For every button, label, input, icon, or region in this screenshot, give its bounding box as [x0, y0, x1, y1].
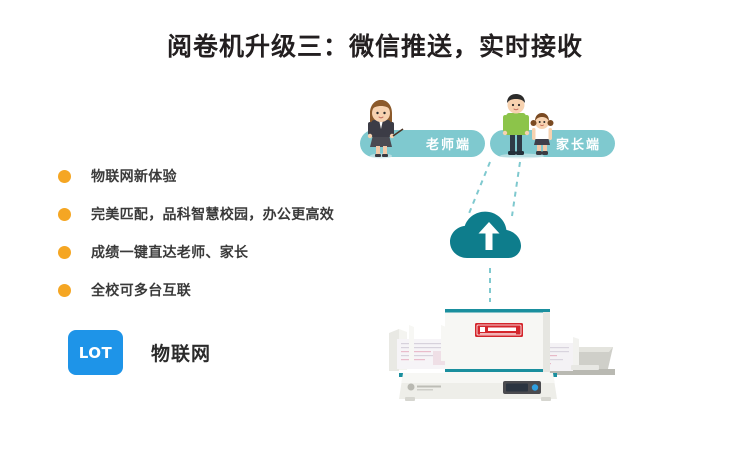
feature-bullet-list: 物联网新体验 完美匹配，品科智慧校园，办公更高效 成绩一键直达老师、家长 全校可…: [58, 157, 358, 309]
endpoint-label-parent: 家长端: [556, 134, 601, 153]
list-item: 成绩一键直达老师、家长: [58, 233, 358, 271]
list-item: 全校可多台互联: [58, 271, 358, 309]
parent-child-figure-icon: [492, 89, 554, 159]
iot-diagram: 老师端: [340, 80, 740, 420]
bullet-dot-icon: [58, 208, 71, 221]
bullet-dot-icon: [58, 284, 71, 297]
list-item-label: 全校可多台互联: [91, 280, 191, 300]
list-item-label: 完美匹配，品科智慧校园，办公更高效: [91, 204, 334, 224]
cloud-node[interactable]: [445, 206, 535, 266]
bullet-dot-icon: [58, 170, 71, 183]
bullet-dot-icon: [58, 246, 71, 259]
omr-scanner-illustration: [375, 295, 625, 405]
slide-canvas: 阅卷机升级三：微信推送，实时接收 物联网新体验 完美匹配，品科智慧校园，办公更高…: [0, 0, 750, 450]
list-item: 完美匹配，品科智慧校园，办公更高效: [58, 195, 358, 233]
cloud-upload-icon: [445, 206, 535, 266]
lot-badge-label: 物联网: [151, 339, 211, 366]
lot-badge: LOT: [68, 330, 123, 375]
endpoint-label-teacher: 老师端: [426, 134, 471, 153]
teacher-figure-icon: [358, 93, 404, 159]
list-item: 物联网新体验: [58, 157, 358, 195]
list-item-label: 物联网新体验: [91, 166, 177, 186]
iot-badge-group: LOT 物联网: [68, 330, 211, 375]
list-item-label: 成绩一键直达老师、家长: [91, 242, 248, 262]
page-title: 阅卷机升级三：微信推送，实时接收: [0, 27, 750, 63]
omr-scanner-device[interactable]: [375, 295, 625, 405]
